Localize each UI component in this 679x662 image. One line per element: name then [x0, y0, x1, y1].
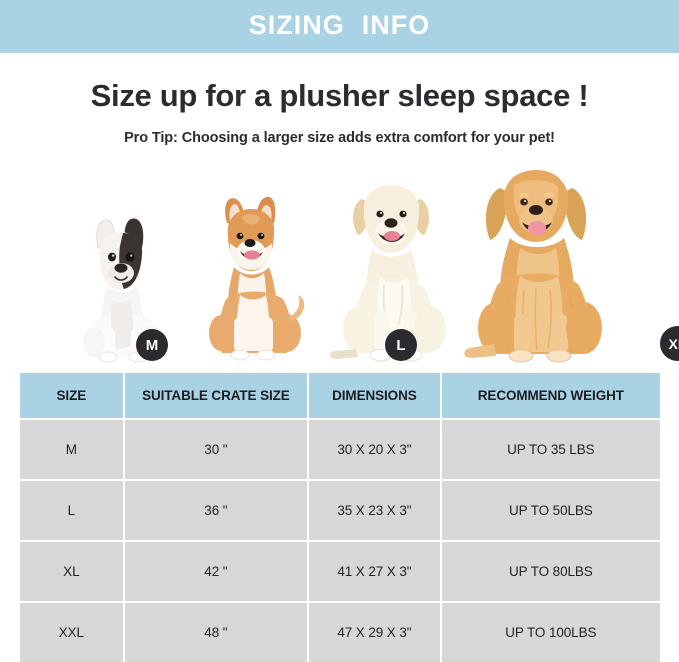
cell-weight: UP TO 100LBS [442, 603, 660, 662]
size-badge-l: L [385, 329, 417, 361]
cell-size: M [20, 420, 123, 479]
size-badge-xl: XL [660, 326, 679, 361]
cell-size: XXL [20, 603, 123, 662]
cell-crate-size: 42 " [125, 542, 307, 601]
sizing-table: SIZE SUITABLE CRATE SIZE DIMENSIONS RECO… [20, 373, 660, 662]
cell-weight: UP TO 35 LBS [442, 420, 660, 479]
cell-dimensions: 35 X 23 X 3" [309, 481, 440, 540]
size-badge-m: M [136, 329, 168, 361]
cell-crate-size: 36 " [125, 481, 307, 540]
table-row: L 36 " 35 X 23 X 3" UP TO 50LBS [20, 481, 660, 540]
golden-retriever-illustration [462, 160, 622, 365]
cell-dimensions: 41 X 27 X 3" [309, 542, 440, 601]
cell-weight: UP TO 80LBS [442, 542, 660, 601]
table-row: XXL 48 " 47 X 29 X 3" UP TO 100LBS [20, 603, 660, 662]
cell-crate-size: 48 " [125, 603, 307, 662]
shiba-inu-illustration [188, 187, 318, 365]
dog-figure-xxl: XXL [462, 160, 622, 365]
table-header-row: SIZE SUITABLE CRATE SIZE DIMENSIONS RECO… [20, 373, 660, 418]
page-headline: Size up for a plusher sleep space ! [0, 78, 679, 114]
table-row: XL 42 " 41 X 27 X 3" UP TO 80LBS [20, 542, 660, 601]
banner-title: SIZING INFO [249, 12, 431, 41]
column-header-crate-size: SUITABLE CRATE SIZE [125, 373, 307, 418]
column-header-dimensions: DIMENSIONS [309, 373, 440, 418]
cell-crate-size: 30 " [125, 420, 307, 479]
pro-tip-subheading: Pro Tip: Choosing a larger size adds ext… [0, 130, 679, 146]
column-header-weight: RECOMMEND WEIGHT [442, 373, 660, 418]
french-bulldog-illustration [60, 200, 190, 365]
cell-dimensions: 30 X 20 X 3" [309, 420, 440, 479]
sizing-info-banner: SIZING INFO [0, 0, 679, 53]
dog-size-comparison: M [0, 160, 679, 365]
cell-size: XL [20, 542, 123, 601]
dog-figure-l: L [188, 187, 318, 365]
column-header-size: SIZE [20, 373, 123, 418]
cell-weight: UP TO 50LBS [442, 481, 660, 540]
table-row: M 30 " 30 X 20 X 3" UP TO 35 LBS [20, 420, 660, 479]
cell-dimensions: 47 X 29 X 3" [309, 603, 440, 662]
cell-size: L [20, 481, 123, 540]
dog-figure-m: M [60, 200, 190, 365]
